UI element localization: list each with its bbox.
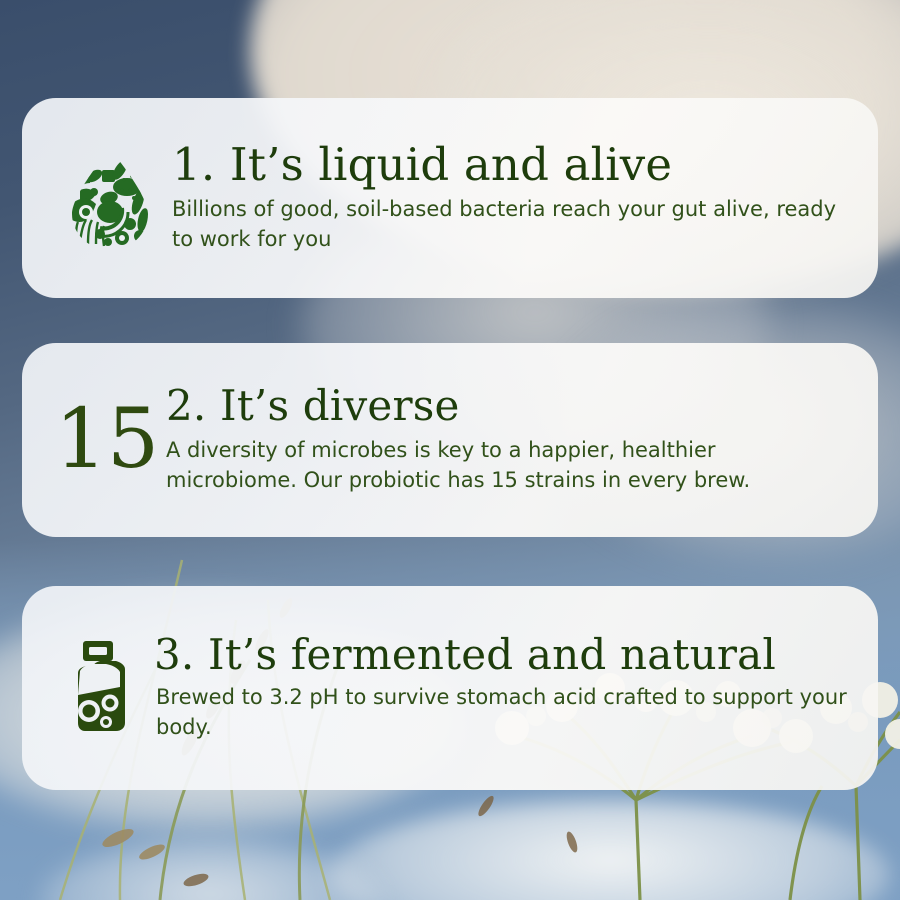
- feature-card-2-description: A diversity of microbes is key to a happ…: [166, 436, 852, 496]
- feature-card-1-description: Billions of good, soil-based bacteria re…: [172, 195, 852, 255]
- feature-card-2: 15 2. It’s diverse A diversity of microb…: [22, 343, 878, 537]
- feature-card-3: 3. It’s fermented and natural Brewed to …: [22, 586, 878, 790]
- feature-card-1: 1. It’s liquid and alive Billions of goo…: [22, 98, 878, 298]
- strain-count-number: 15: [55, 399, 159, 481]
- feature-card-2-body: 2. It’s diverse A diversity of microbes …: [166, 384, 852, 495]
- promo-graphic: 1. It’s liquid and alive Billions of goo…: [0, 0, 900, 900]
- feature-card-3-description: Brewed to 3.2 pH to survive stomach acid…: [156, 683, 852, 743]
- feature-card-2-title: 2. It’s diverse: [166, 384, 852, 429]
- feature-card-1-title: 1. It’s liquid and alive: [172, 141, 852, 189]
- soil-droplet-icon: [48, 146, 172, 250]
- feature-card-3-body: 3. It’s fermented and natural Brewed to …: [156, 633, 852, 743]
- fermented-bottle-icon: [48, 639, 156, 737]
- feature-card-1-body: 1. It’s liquid and alive Billions of goo…: [172, 141, 852, 254]
- feature-card-3-title: 3. It’s fermented and natural: [154, 633, 852, 678]
- strain-count-badge: 15: [48, 399, 166, 481]
